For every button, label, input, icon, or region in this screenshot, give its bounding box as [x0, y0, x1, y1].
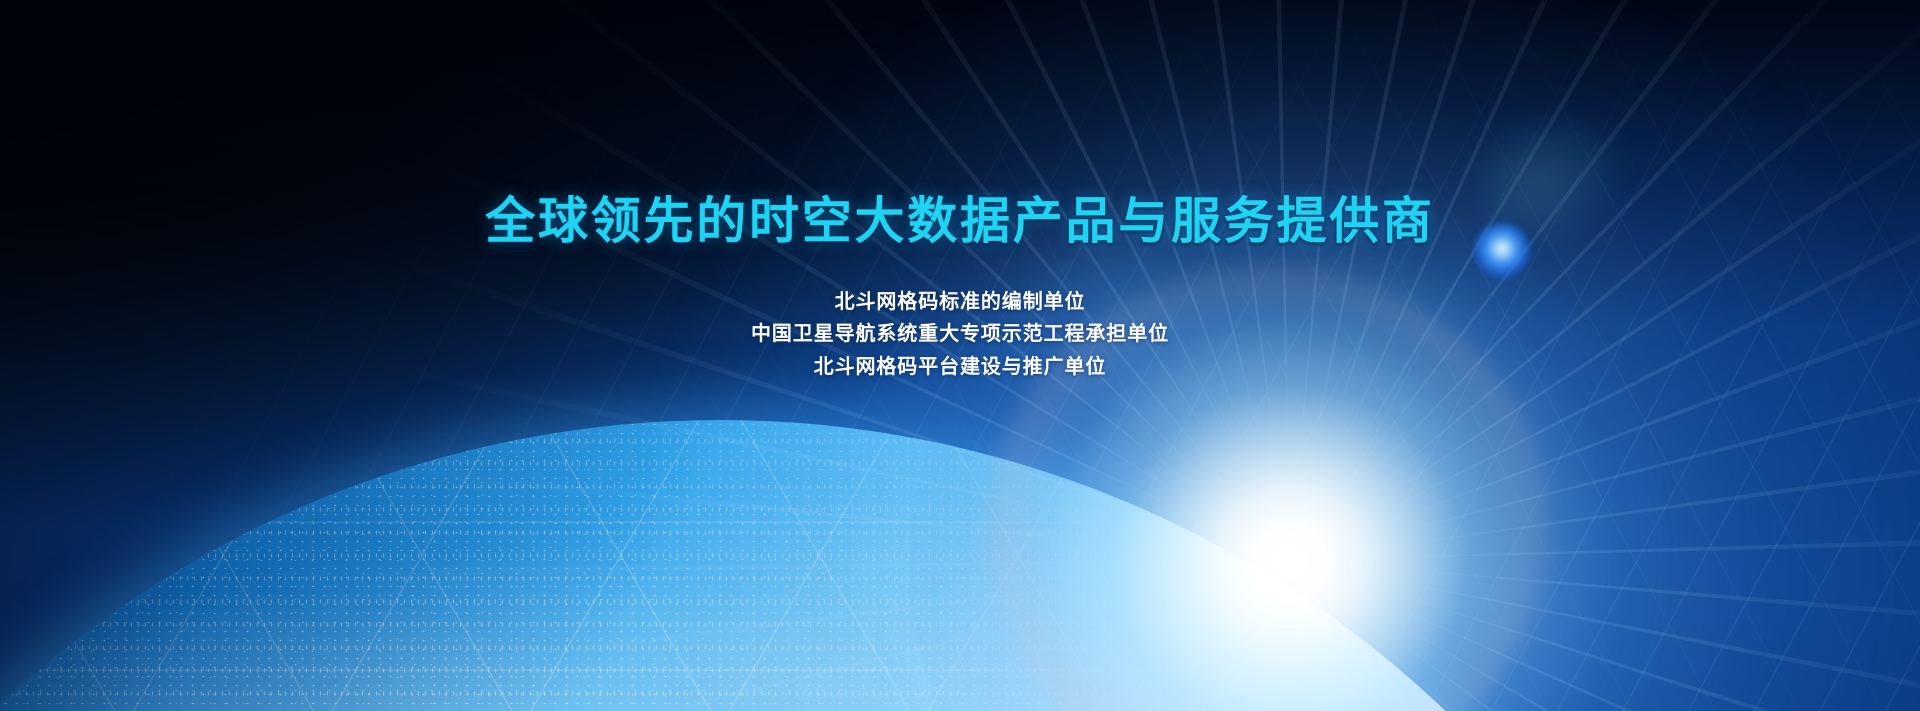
hero-subtitle-line: 北斗网格码标准的编制单位 — [0, 286, 1920, 318]
hero-subtitle-list: 北斗网格码标准的编制单位 中国卫星导航系统重大专项示范工程承担单位 北斗网格码平… — [0, 286, 1920, 383]
page-title: 全球领先的时空大数据产品与服务提供商 — [0, 196, 1920, 246]
hero-text-block: 全球领先的时空大数据产品与服务提供商 北斗网格码标准的编制单位 中国卫星导航系统… — [0, 196, 1920, 383]
hero-subtitle-line: 北斗网格码平台建设与推广单位 — [0, 351, 1920, 383]
hero-subtitle-line: 中国卫星导航系统重大专项示范工程承担单位 — [0, 318, 1920, 350]
hero-banner: 全球领先的时空大数据产品与服务提供商 北斗网格码标准的编制单位 中国卫星导航系统… — [0, 0, 1920, 711]
